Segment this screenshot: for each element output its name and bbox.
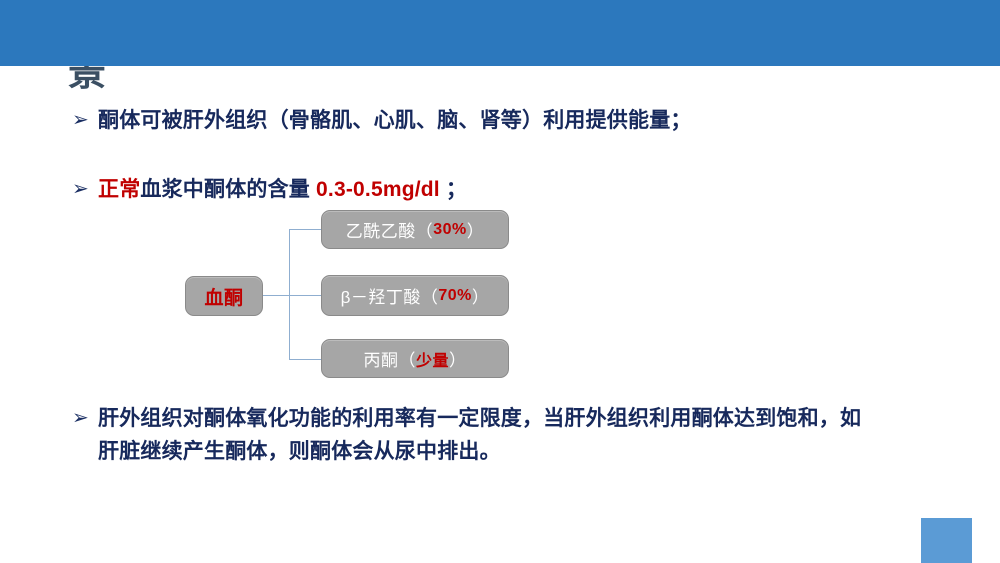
diagram-node-label-prefix: β－羟丁酸（ [341,283,439,308]
diagram-node-label-suffix: ） [472,283,490,308]
connector-branch-3 [289,359,321,360]
diagram-node-label-prefix: 丙酮（ [363,346,416,371]
bullet-segment: 肝外组织对酮体氧化功能的利用率有一定限度，当肝外组织利用酮体达到饱和，如肝脏继续… [98,407,861,463]
diagram-node-label-prefix: 乙酰乙酸（ [346,217,434,242]
blood-ketone-diagram: 血酮 乙酰乙酸（30%） β－羟丁酸（70%） 丙酮（少量） [185,208,515,383]
accent-square [921,518,972,563]
bullet-segment: 血浆中酮体的含量 [140,178,316,201]
header-mask [0,0,1000,66]
connector-stem [263,295,289,296]
bullet-arrow-icon: ➢ [72,173,98,205]
diagram-node-value: 30% [433,221,467,239]
diagram-node-label-suffix: ） [467,217,485,242]
diagram-node-acetone: 丙酮（少量） [321,339,509,378]
connector-spine [289,229,290,359]
diagram-node-beta-hydroxybutyrate: β－羟丁酸（70%） [321,275,509,316]
bullet-segment: 酮体可被肝外组织（骨骼肌、心肌、脑、肾等）利用提供能量； [98,109,692,132]
diagram-node-value: 少量 [416,347,449,371]
diagram-node-label-suffix: ） [449,346,467,371]
diagram-node-root: 血酮 [185,276,263,316]
diagram-node-root-label: 血酮 [204,283,243,310]
bullet-text: 正常血浆中酮体的含量 0.3-0.5mg/dl ； [98,173,467,206]
bullet-segment-tail: ； [440,178,467,201]
bullet-segment-value: 0.3-0.5mg/dl [316,178,440,201]
bullet-item-normal-plasma-level: ➢ 正常血浆中酮体的含量 0.3-0.5mg/dl ； [72,173,467,206]
bullet-item-ketone-utilization: ➢ 酮体可被肝外组织（骨骼肌、心肌、脑、肾等）利用提供能量； [72,104,692,137]
bullet-segment-emphasis: 正常 [98,178,140,201]
diagram-node-value: 70% [438,287,472,305]
bullet-arrow-icon: ➢ [72,402,98,434]
bullet-arrow-icon: ➢ [72,104,98,136]
connector-branch-2 [289,295,321,296]
bullet-text: 酮体可被肝外组织（骨骼肌、心肌、脑、肾等）利用提供能量； [98,104,692,137]
bullet-text: 肝外组织对酮体氧化功能的利用率有一定限度，当肝外组织利用酮体达到饱和，如肝脏继续… [98,402,862,468]
connector-branch-1 [289,229,321,230]
diagram-node-acetoacetate: 乙酰乙酸（30%） [321,210,509,249]
bullet-item-saturation-excretion: ➢ 肝外组织对酮体氧化功能的利用率有一定限度，当肝外组织利用酮体达到饱和，如肝脏… [72,402,862,468]
